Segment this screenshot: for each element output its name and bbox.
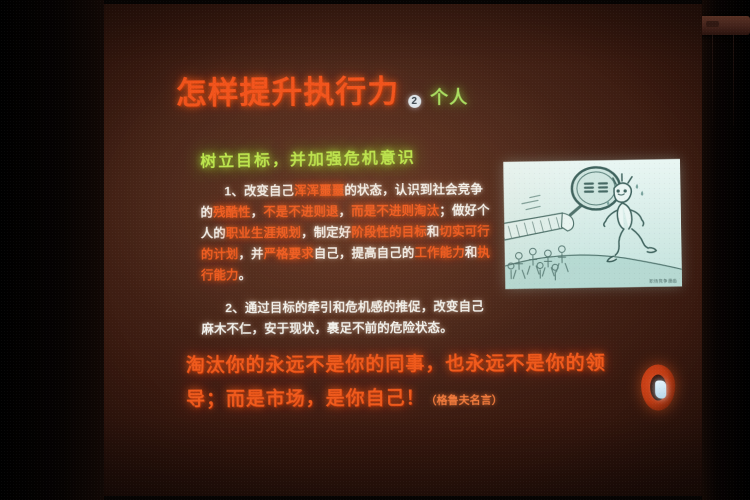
body-run: 改变自己 xyxy=(244,184,294,198)
paragraph-runs-1: 改变自己浑浑噩噩的状态，认识到社会竞争的残酷性，不是不进则退，而是不进则淘汰；做… xyxy=(201,182,491,282)
body-run: 工作能力 xyxy=(414,246,465,260)
dark-wall-left xyxy=(0,0,104,500)
body-paragraph-2: 2、通过目标的牵引和危机感的推促，改变自己麻木不仁，安于现状，裹足不前的危险状态… xyxy=(201,296,493,340)
screen-pull-cord xyxy=(712,34,713,126)
slide-quote: 淘汰你的永远不是你的同事，也永远不是你的领 导；而是市场，是你自己！（格鲁夫名言… xyxy=(186,347,616,419)
slide-title: 怎样提升执行力 2 个人 xyxy=(176,65,469,113)
quote-line-2: 导；而是市场，是你自己！ xyxy=(186,388,426,410)
slide-title-text: 怎样提升执行力 xyxy=(176,66,400,113)
roller-bracket-icon xyxy=(706,21,719,27)
paragraph-number: 2、 xyxy=(225,301,245,315)
corner-brand-logo xyxy=(641,364,676,410)
slide-body: 1、改变自己浑浑噩噩的状态，认识到社会竞争的残酷性，不是不进则退，而是不进则淘汰… xyxy=(200,179,493,352)
title-suffix-text: 个人 xyxy=(430,83,468,109)
body-run: 职业生涯规划 xyxy=(226,226,301,241)
quote-source: （格鲁夫名言） xyxy=(426,394,503,406)
body-run: 浑浑噩噩 xyxy=(294,183,344,197)
logo-glyph-icon xyxy=(655,380,666,398)
body-run: 阶段性的目标 xyxy=(351,225,427,240)
body-run: 和 xyxy=(427,225,440,239)
body-run: 严格要求 xyxy=(264,247,314,261)
body-run: 不是不进则退 xyxy=(263,205,338,220)
body-run: ， xyxy=(339,204,352,218)
title-number-badge: 2 xyxy=(408,95,421,108)
quote-line-1: 淘汰你的永远不是你的同事，也永远不是你的领 xyxy=(186,353,606,377)
slide-illustration: 职场竞争漫画 xyxy=(503,159,682,289)
body-run: 自己，提高自己的 xyxy=(314,246,415,261)
slide-subheading: 树立目标，并加强危机意识 xyxy=(200,144,416,172)
body-run: ，制定好 xyxy=(301,225,351,239)
body-run: 残酷性 xyxy=(213,205,251,219)
paragraph-number: 1、 xyxy=(224,184,244,198)
illustration-caption: 职场竞争漫画 xyxy=(649,278,677,284)
body-run: 而是不进则淘汰 xyxy=(351,204,439,219)
body-run: 和 xyxy=(465,245,478,259)
dark-wall-right xyxy=(702,0,750,500)
screen-pull-cord xyxy=(733,34,734,126)
body-paragraph-1: 1、改变自己浑浑噩噩的状态，认识到社会竞争的残酷性，不是不进则退，而是不进则淘汰… xyxy=(200,179,492,286)
body-run: ， xyxy=(251,205,264,219)
projection-screen: 怎样提升执行力 2 个人 树立目标，并加强危机意识 1、改变自己浑浑噩噩的状态，… xyxy=(104,4,702,496)
body-run: ，并 xyxy=(238,247,263,261)
body-run: 。 xyxy=(239,268,252,282)
room-photograph: 怎样提升执行力 2 个人 树立目标，并加强危机意识 1、改变自己浑浑噩噩的状态，… xyxy=(0,0,750,500)
